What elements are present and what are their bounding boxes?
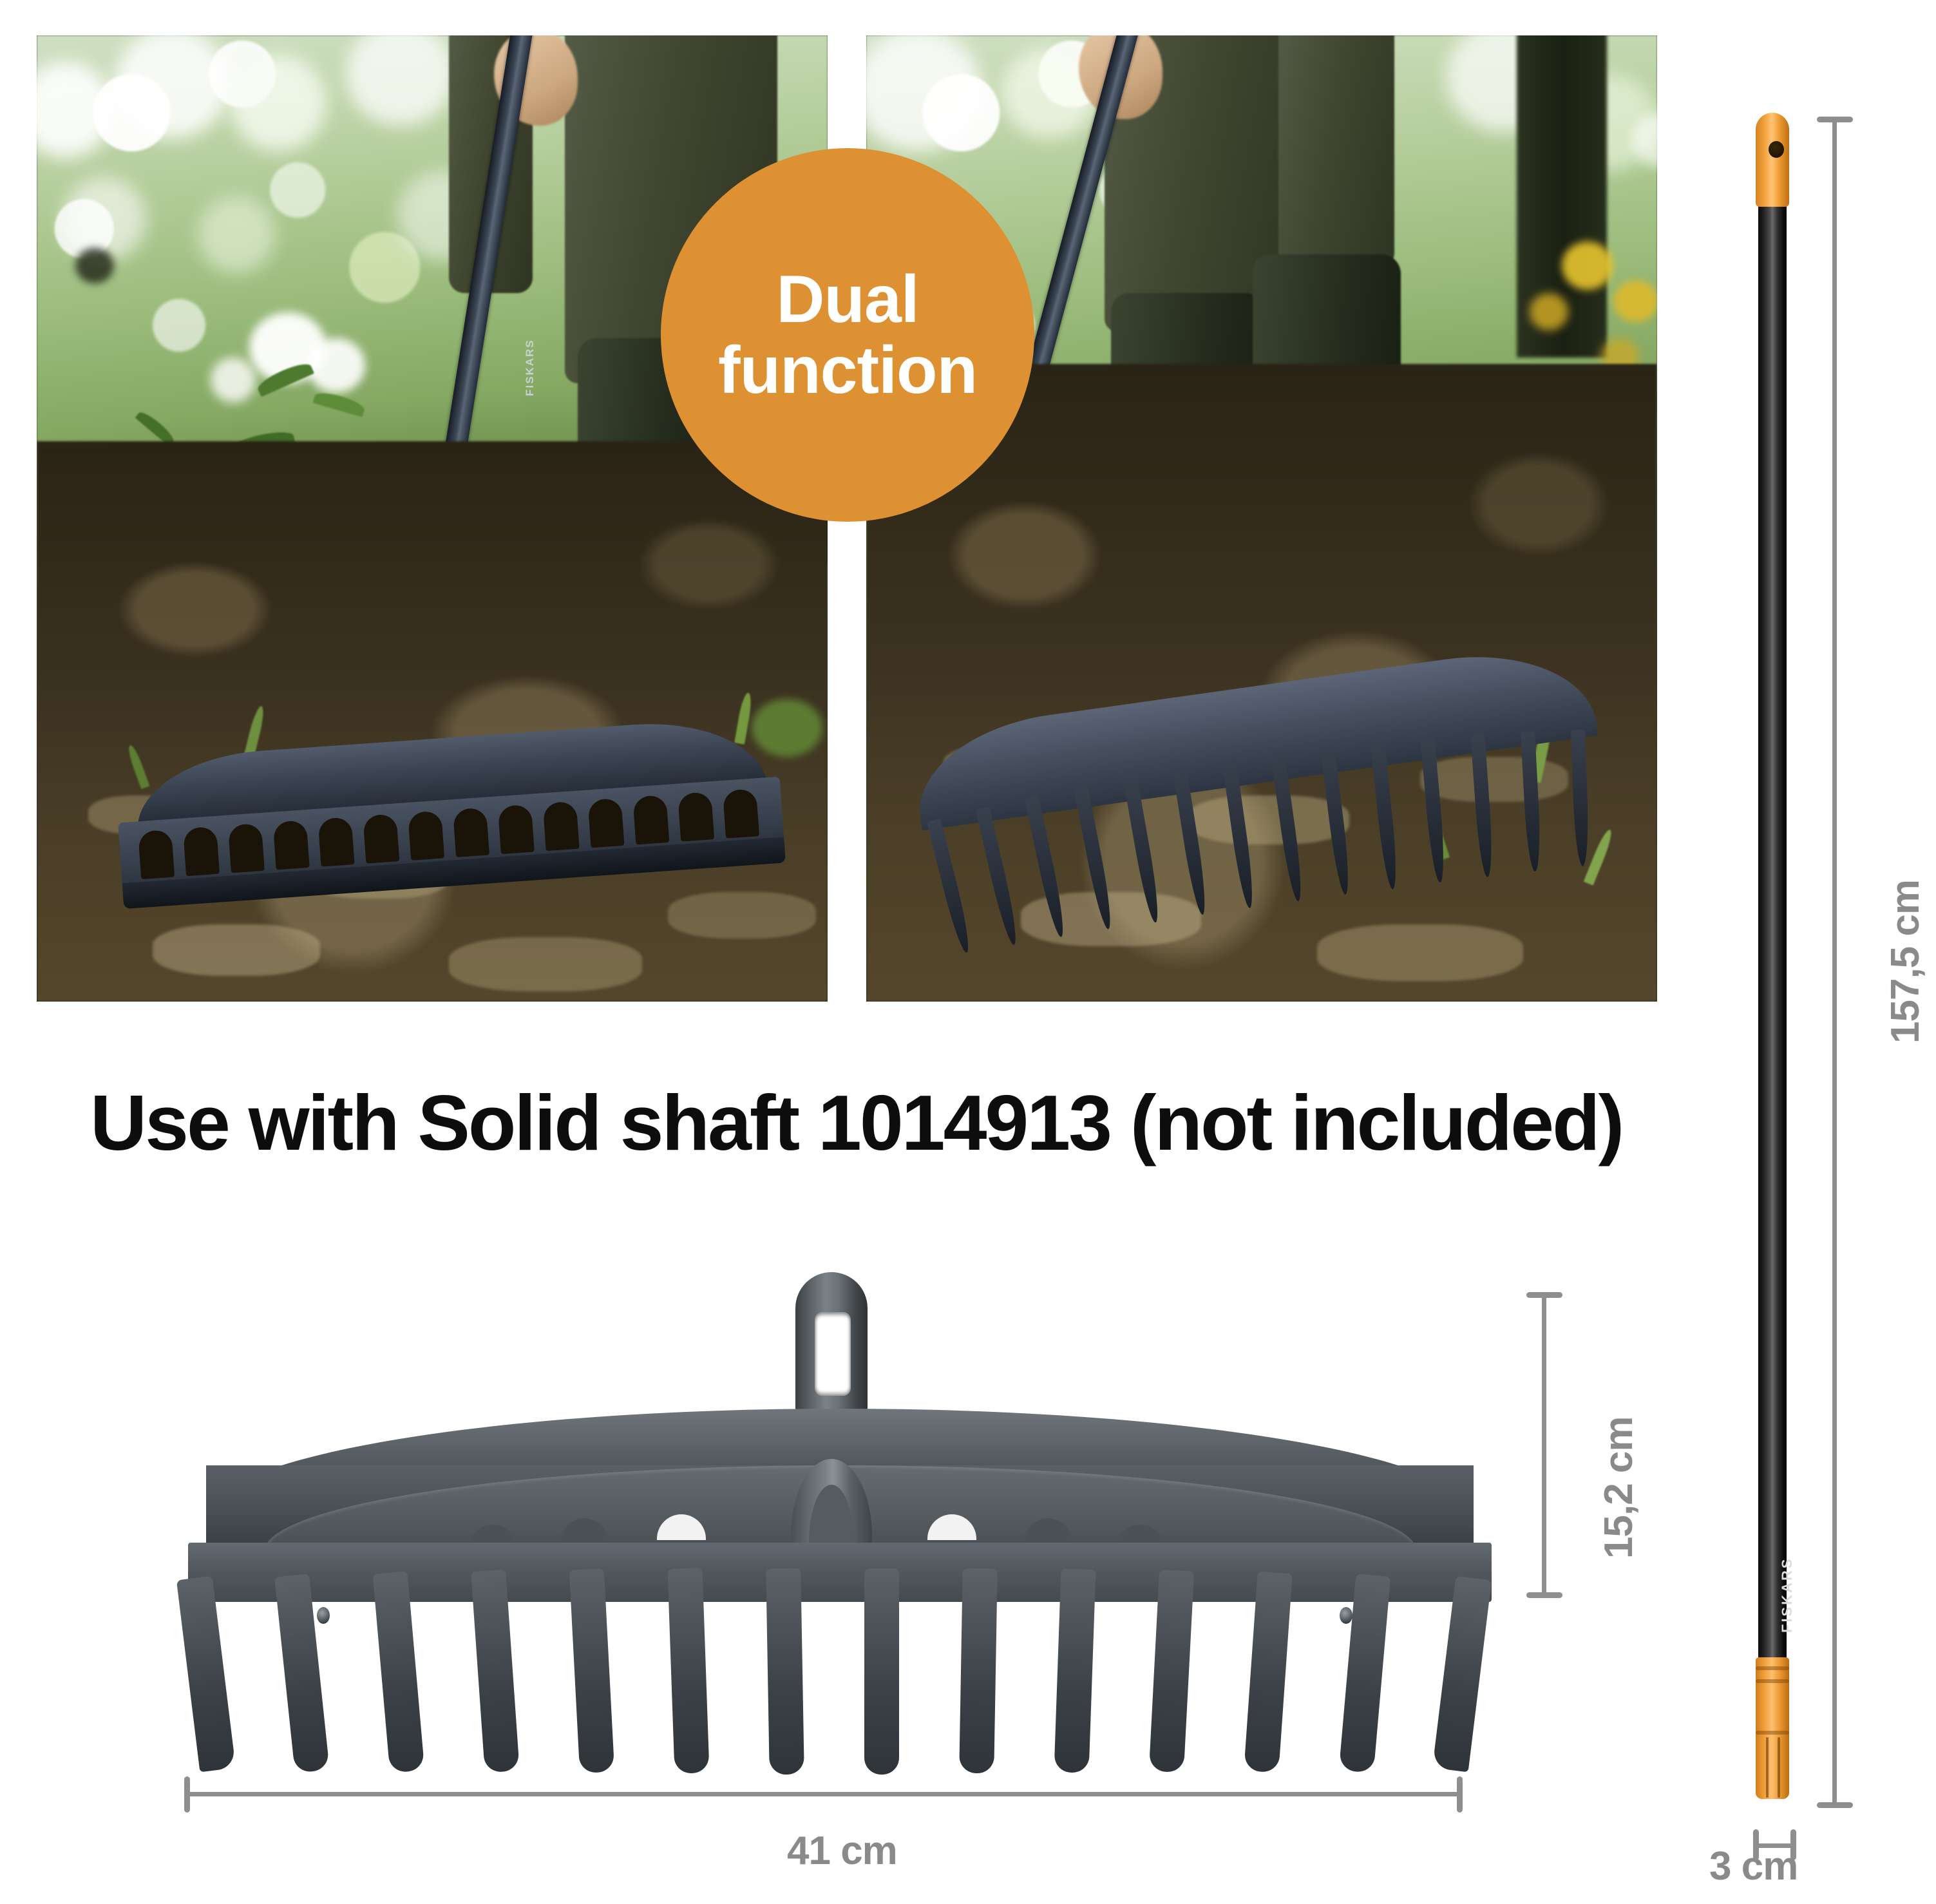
rake-tine — [274, 1574, 330, 1773]
solid-shaft: FISKARS — [1753, 113, 1797, 1800]
rake-tine — [471, 1569, 520, 1773]
connector-ring — [1756, 1731, 1789, 1735]
dim-cap-top — [1526, 1292, 1562, 1298]
shaft-tube — [1758, 196, 1787, 1678]
rake-tine — [569, 1568, 614, 1773]
socket-opening — [815, 1312, 851, 1396]
dim-label-shaft-diameter: 3 cm — [1709, 1843, 1798, 1889]
yellow-flower — [1530, 293, 1568, 330]
rake-tine — [373, 1571, 425, 1773]
seedhead — [75, 248, 114, 283]
shaft-brand-label: FISKARS — [524, 339, 536, 396]
rake-tine — [766, 1568, 804, 1775]
dim-line-head-height — [1542, 1293, 1546, 1596]
leg — [1278, 35, 1394, 267]
rake-tine — [1054, 1568, 1096, 1773]
dim-label-head-width: 41 cm — [787, 1828, 897, 1874]
dim-cap-left — [184, 1776, 190, 1813]
connector-ring — [1756, 1679, 1789, 1683]
dim-cap-right — [1457, 1776, 1463, 1813]
rake-tine-row — [188, 1568, 1492, 1781]
dim-line-head-width — [185, 1792, 1461, 1796]
rake-tine — [959, 1568, 998, 1774]
rake-tine — [667, 1568, 709, 1774]
photo-rake-leveling: FISKARS — [37, 35, 828, 1002]
infographic-canvas: FISKARS — [0, 0, 1936, 1904]
dual-function-badge: Dual function — [661, 148, 1034, 522]
shaft-brand-label: FISKARS — [1779, 1557, 1796, 1633]
dim-label-head-height: 15,2 cm — [1596, 1416, 1642, 1559]
dim-cap-bottom — [1817, 1802, 1853, 1808]
hanging-hole — [1769, 141, 1784, 158]
connector-slot — [1778, 1737, 1780, 1798]
yellow-flower — [1562, 242, 1613, 290]
rake-tine — [1244, 1571, 1292, 1773]
badge-line-2: function — [718, 335, 977, 406]
dim-cap-top — [1817, 117, 1853, 122]
photo-rake-tines — [866, 35, 1657, 1002]
connector-slot — [1766, 1737, 1769, 1798]
flower-cluster — [211, 357, 256, 403]
dim-line-shaft-length — [1832, 117, 1837, 1806]
shaft-top-cap — [1756, 113, 1789, 207]
rake-tine — [1149, 1570, 1194, 1773]
rake-tine — [1432, 1576, 1492, 1773]
rake-tine — [864, 1568, 899, 1775]
flower-cluster — [307, 338, 365, 393]
shaft-bottom-connector — [1756, 1657, 1789, 1799]
connector-ring — [1756, 1666, 1789, 1670]
rake-tine — [1339, 1574, 1390, 1773]
dim-label-shaft-length: 157,5 cm — [1883, 880, 1928, 1043]
badge-line-1: Dual — [776, 264, 918, 335]
bokeh-highlight — [198, 196, 275, 274]
rake-tine — [176, 1576, 236, 1773]
yellow-flower — [1613, 280, 1657, 322]
page-headline: Use with Solid shaft 1014913 (not includ… — [90, 1083, 1829, 1162]
bokeh-highlight — [230, 55, 327, 151]
rake-head — [167, 1272, 1514, 1781]
dim-cap-bottom — [1526, 1592, 1562, 1598]
bokeh-highlight — [62, 177, 146, 261]
